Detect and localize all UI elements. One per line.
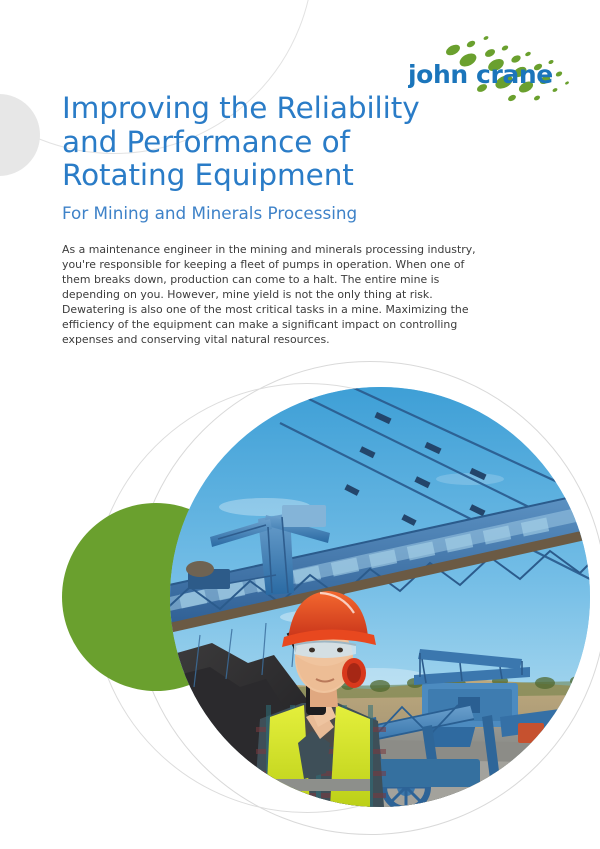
mining-site-photo	[170, 387, 590, 807]
page-subtitle: For Mining and Minerals Processing	[62, 202, 492, 224]
cover-text-block: Improving the Reliability and Performanc…	[62, 92, 492, 347]
page-title: Improving the Reliability and Performanc…	[62, 92, 492, 193]
logo-wordmark: john crane	[408, 60, 553, 89]
brochure-cover-page: john crane Improving the Reliability and…	[0, 0, 600, 849]
intro-paragraph: As a maintenance engineer in the mining …	[62, 242, 492, 348]
gray-dot	[0, 94, 40, 176]
